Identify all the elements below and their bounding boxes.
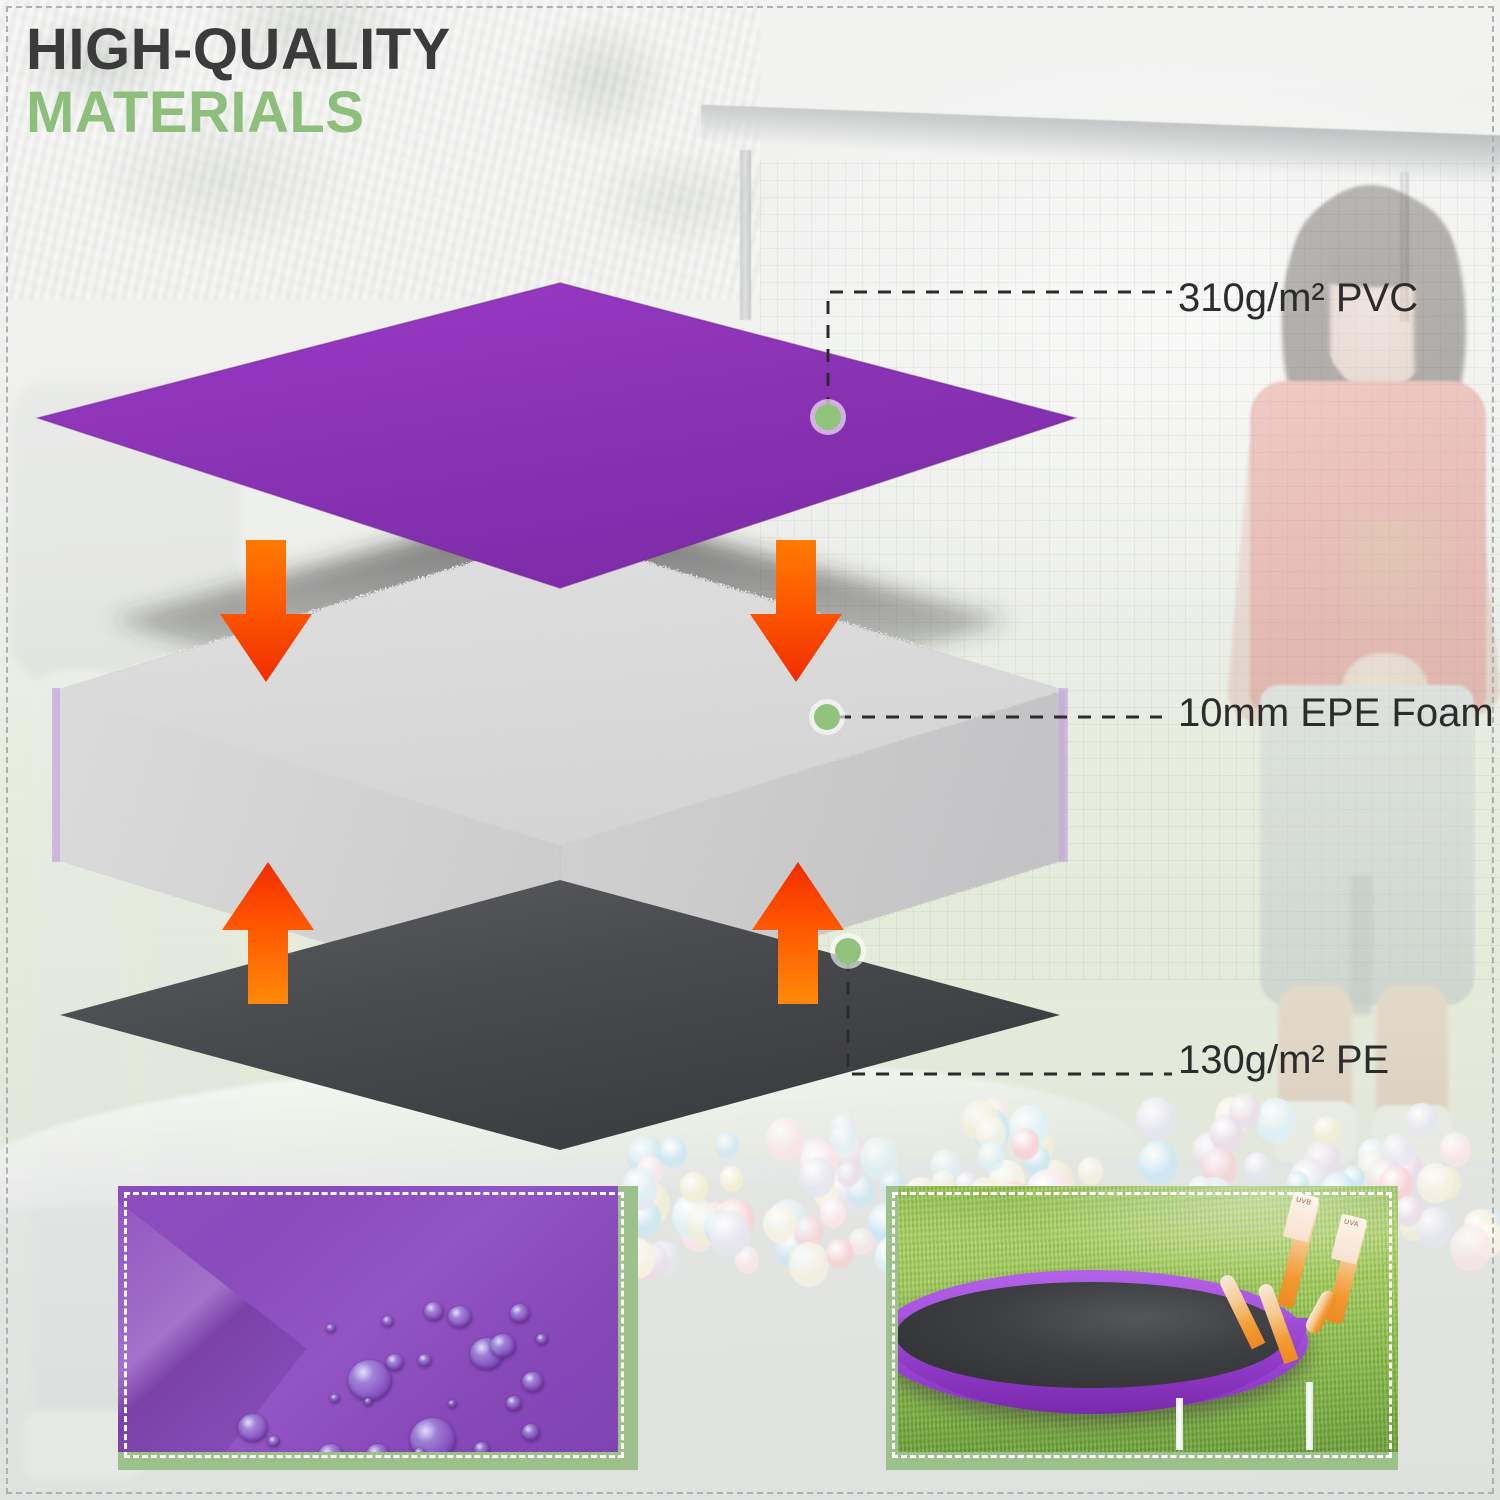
ball — [1417, 1163, 1452, 1203]
water-droplet — [418, 1354, 432, 1367]
water-droplet — [522, 1424, 540, 1441]
water-droplet — [238, 1414, 268, 1442]
callout-line-foam — [836, 705, 1166, 729]
ball — [1450, 1225, 1492, 1272]
water-droplet — [506, 1396, 522, 1411]
inset-uv-resistant: UVB UVA — [886, 1186, 1398, 1470]
ball — [820, 1198, 847, 1228]
ball — [1440, 1132, 1472, 1168]
callout-dot-foam — [814, 704, 840, 730]
infographic-canvas: HIGH-QUALITY MATERIALS — [0, 0, 1500, 1500]
water-droplet — [490, 1334, 516, 1358]
ball — [789, 1242, 829, 1287]
title-line-2: MATERIALS — [26, 83, 451, 142]
callout-dot-pvc — [815, 404, 841, 430]
water-droplet — [326, 1324, 336, 1333]
page-title: HIGH-QUALITY MATERIALS — [26, 20, 451, 142]
ball — [1406, 1103, 1438, 1138]
water-droplet — [522, 1372, 544, 1392]
water-droplet — [364, 1398, 373, 1406]
inset-waterproof-photo — [118, 1186, 618, 1452]
callout-line-pe — [838, 952, 1178, 1092]
title-line-1: HIGH-QUALITY — [26, 20, 451, 79]
callout-dot-pe — [835, 938, 861, 964]
inset-waterproof — [118, 1186, 638, 1470]
ball — [1138, 1141, 1178, 1186]
water-droplet — [382, 1316, 394, 1327]
water-droplet — [474, 1442, 490, 1452]
water-droplet — [410, 1418, 456, 1452]
trampoline-leg-2 — [1306, 1382, 1313, 1450]
child-shirt-print — [1342, 515, 1462, 635]
trampoline-leg-1 — [1176, 1398, 1183, 1450]
ball — [709, 1210, 750, 1256]
uv-label-b: UVB — [1295, 1196, 1312, 1207]
callout-label-pvc: 310g/m² PVC — [1178, 276, 1418, 321]
child-figure — [1222, 185, 1490, 1175]
ball — [1314, 1116, 1339, 1144]
callout-label-pe: 130g/m² PE — [1178, 1038, 1389, 1083]
water-droplet — [348, 1360, 392, 1401]
callout-label-foam: 10mm EPE Foam — [1178, 691, 1494, 736]
child-shorts-seam — [1350, 875, 1372, 1015]
water-droplet — [386, 1354, 404, 1371]
water-droplet — [448, 1400, 457, 1408]
ball — [826, 1239, 853, 1270]
callout-line-pvc — [820, 280, 1180, 430]
water-droplet — [448, 1306, 472, 1328]
uv-label-a: UVA — [1343, 1218, 1359, 1228]
ball — [1244, 1152, 1271, 1182]
water-droplets — [118, 1186, 618, 1452]
water-droplet — [268, 1436, 280, 1447]
water-droplet — [318, 1444, 344, 1452]
water-droplet — [330, 1394, 340, 1403]
ball — [1256, 1098, 1296, 1143]
water-droplet — [510, 1304, 530, 1323]
water-droplet — [536, 1334, 548, 1345]
water-droplet — [414, 1448, 426, 1452]
ball — [1136, 1097, 1176, 1142]
water-droplet — [424, 1302, 444, 1321]
water-droplet — [366, 1444, 390, 1452]
ball — [1229, 1093, 1261, 1129]
inset-uv-photo: UVB UVA — [898, 1186, 1398, 1452]
